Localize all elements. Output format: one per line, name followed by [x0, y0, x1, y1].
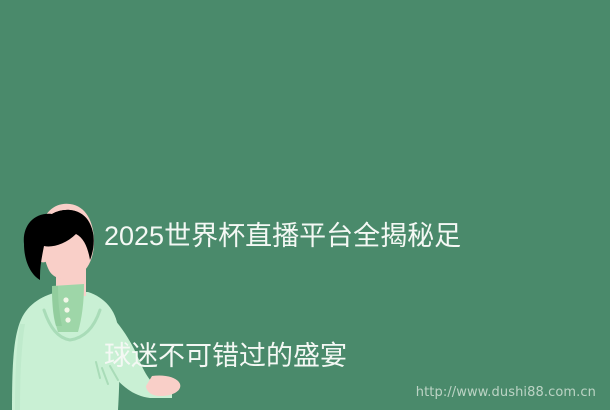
- banner-image: 2025世界杯直播平台全揭秘足 球迷不可错过的盛宴 http://www.dus…: [0, 0, 610, 410]
- button-icon: [65, 317, 70, 322]
- headline-line-1: 2025世界杯直播平台全揭秘足: [104, 216, 524, 256]
- button-icon: [64, 307, 69, 312]
- headline-line-2: 球迷不可错过的盛宴: [104, 336, 524, 376]
- page-title: 2025世界杯直播平台全揭秘足 球迷不可错过的盛宴: [104, 136, 524, 410]
- button-icon: [63, 297, 68, 302]
- watermark-url: http://www.dushi88.com.cn: [416, 385, 596, 400]
